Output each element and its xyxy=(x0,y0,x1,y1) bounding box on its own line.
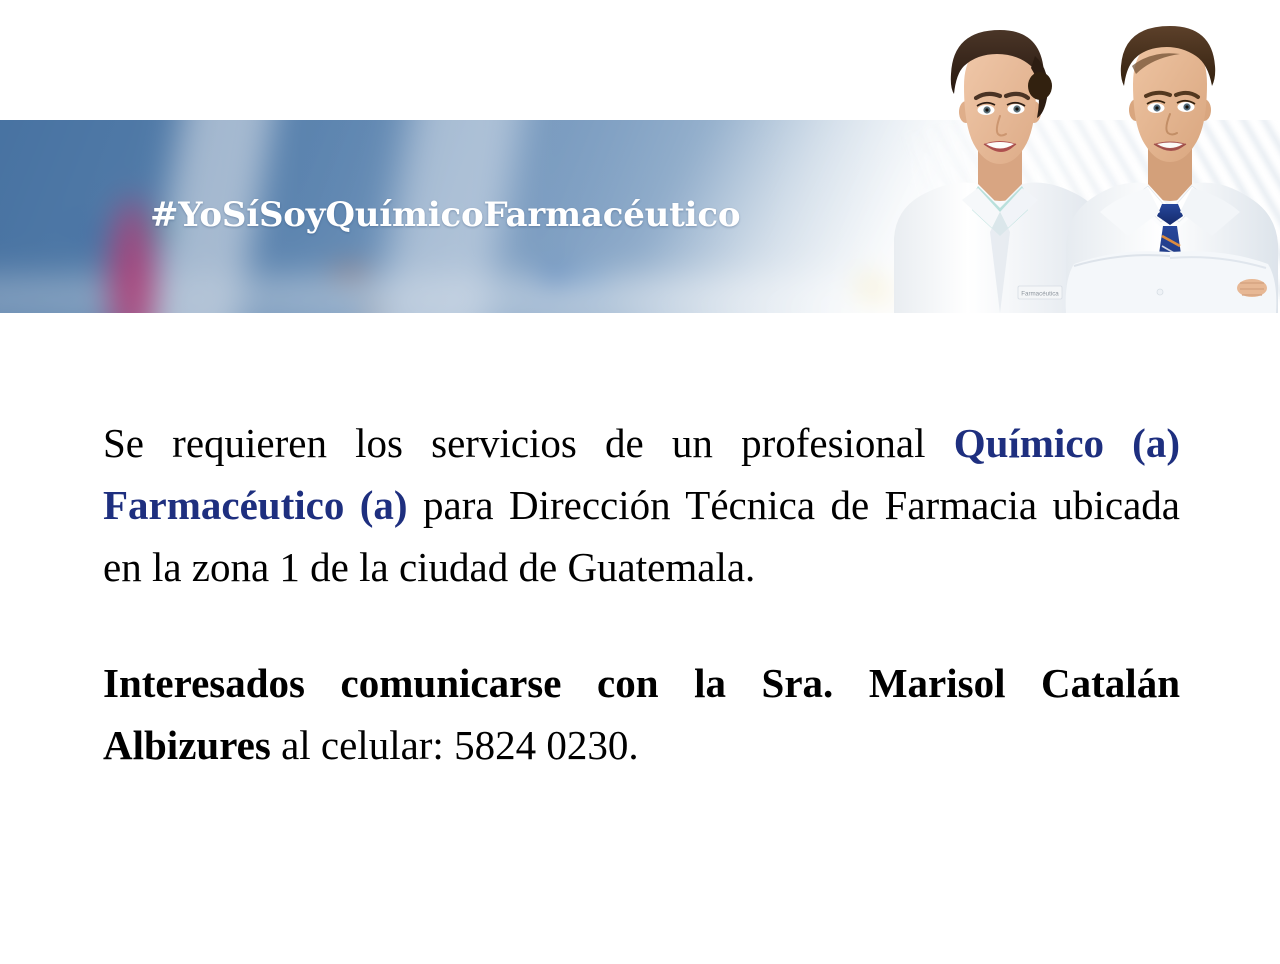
contact-person: Interesados comunicarse con la Sra. Mari… xyxy=(103,660,1180,768)
paragraph-job-description: Se requieren los servicios de un profesi… xyxy=(103,412,1180,598)
female-hair xyxy=(951,30,1044,94)
pharmacy-rack-shelving xyxy=(845,120,1280,313)
announcement-body: Se requieren los servicios de un profesi… xyxy=(103,412,1180,776)
campaign-hashtag: #YoSíSoyQuímicoFarmacéutico xyxy=(150,198,740,232)
paragraph-contact-info: Interesados comunicarse con la Sra. Mari… xyxy=(103,652,1180,776)
paragraph1-part1: Se requieren los servicios de un profesi… xyxy=(103,420,954,466)
male-hair xyxy=(1121,26,1215,86)
contact-phone: al celular: 5824 0230. xyxy=(271,722,639,768)
